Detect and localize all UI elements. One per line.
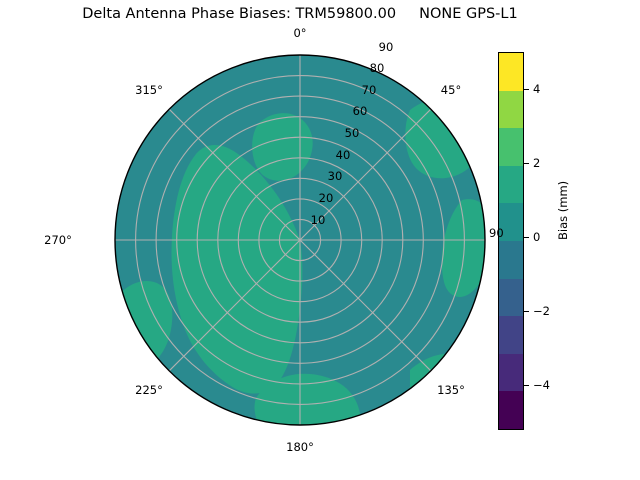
colorbar-tickmark-0 — [524, 237, 529, 238]
angular-tick-180: 180° — [286, 440, 314, 454]
colorbar-band-6 — [499, 279, 523, 317]
colorbar-tickmark-neg4 — [524, 385, 529, 386]
angular-tick-270: 270° — [44, 233, 72, 247]
angular-tick-135: 135° — [437, 383, 465, 397]
colorbar-band-3 — [499, 166, 523, 204]
radial-tick-70: 70 — [362, 83, 377, 97]
colorbar-gradient — [498, 52, 524, 430]
radial-tick-80: 80 — [370, 61, 385, 75]
radial-tick-30: 30 — [328, 169, 343, 183]
colorbar-ticklabel-0: 0 — [533, 230, 540, 244]
angular-tick-0: 0° — [293, 26, 306, 40]
colorbar: 4 2 0 −2 −4 — [498, 52, 524, 430]
angular-tick-45: 45° — [441, 83, 461, 97]
colorbar-ticklabel-4: 4 — [533, 82, 540, 96]
colorbar-tickmark-4 — [524, 89, 529, 90]
polar-grid-spokes — [115, 55, 485, 425]
radial-tick-40: 40 — [336, 148, 351, 162]
radial-tick-60: 60 — [353, 104, 368, 118]
radial-tick-50: 50 — [345, 126, 360, 140]
polar-axes: 0° 45° 90 135° 180° 225° 270° 315° 10 20… — [110, 50, 490, 430]
colorbar-tickmark-neg2 — [524, 311, 529, 312]
colorbar-band-5 — [499, 241, 523, 279]
radial-tick-90: 90 — [379, 40, 394, 54]
colorbar-ticklabel-neg4: −4 — [533, 378, 550, 392]
colorbar-ticklabel-2: 2 — [533, 156, 540, 170]
radial-tick-10: 10 — [311, 213, 326, 227]
colorbar-ticklabel-neg2: −2 — [533, 304, 550, 318]
angular-tick-90-overlap: 90 — [489, 226, 504, 240]
polar-plot-svg — [110, 50, 490, 430]
colorbar-tickmark-2 — [524, 163, 529, 164]
angular-tick-315: 315° — [135, 83, 163, 97]
colorbar-axis-label: Bias (mm) — [556, 181, 570, 240]
colorbar-band-0 — [499, 53, 523, 91]
colorbar-band-9 — [499, 391, 523, 429]
figure-title: Delta Antenna Phase Biases: TRM59800.00 … — [0, 6, 600, 22]
colorbar-band-7 — [499, 316, 523, 354]
radial-tick-20: 20 — [319, 191, 334, 205]
angular-tick-225: 225° — [135, 383, 163, 397]
figure-canvas: Delta Antenna Phase Biases: TRM59800.00 … — [0, 0, 640, 480]
colorbar-band-8 — [499, 354, 523, 392]
colorbar-band-1 — [499, 91, 523, 129]
colorbar-band-2 — [499, 128, 523, 166]
